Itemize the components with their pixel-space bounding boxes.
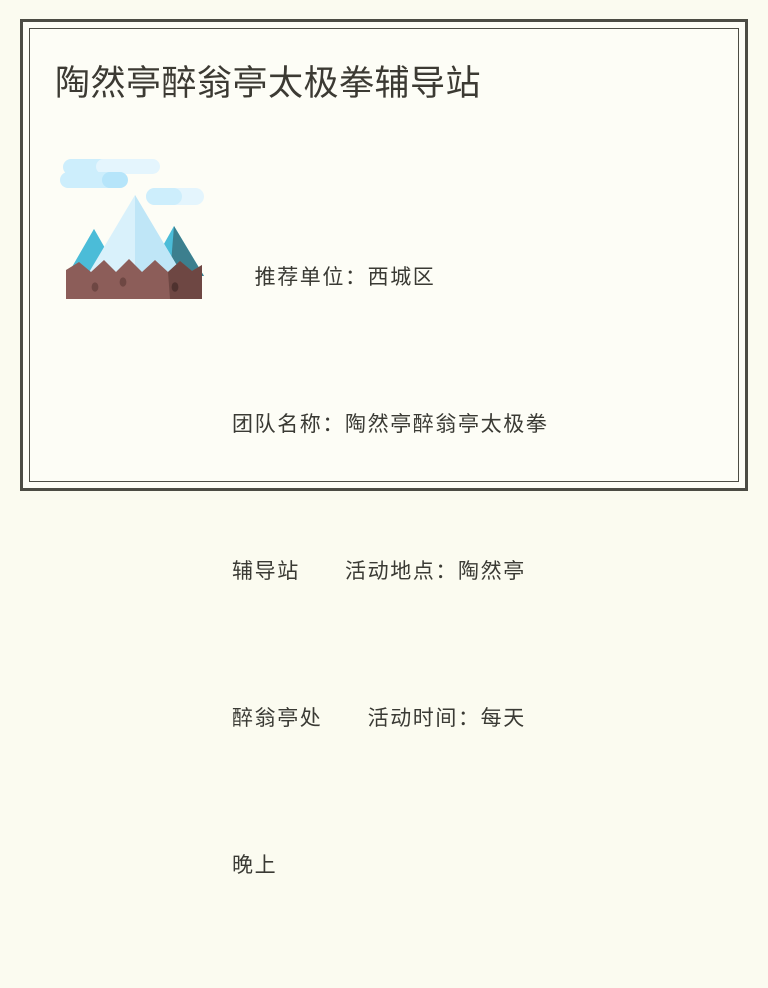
article-body: 推荐单位：西城区 团队名称：陶然亭醉翁亭太极拳 辅导站 活动地点：陶然亭 醉翁亭… [55,155,695,415]
page-root: 陶然亭醉翁亭太极拳辅导站 [0,0,768,510]
article-description: 推荐单位：西城区 团队名称：陶然亭醉翁亭太极拳 辅导站 活动地点：陶然亭 醉翁亭… [232,155,652,988]
description-line: 晚上 [232,841,652,890]
description-line: 醉翁亭处 活动时间：每天 [232,694,652,743]
page-title: 陶然亭醉翁亭太极拳辅导站 [55,62,481,106]
description-line: 推荐单位：西城区 [232,253,652,302]
mountain-placeholder-icon [58,158,210,299]
description-line: 团队名称：陶然亭醉翁亭太极拳 [232,400,652,449]
description-line: 辅导站 活动地点：陶然亭 [232,547,652,596]
